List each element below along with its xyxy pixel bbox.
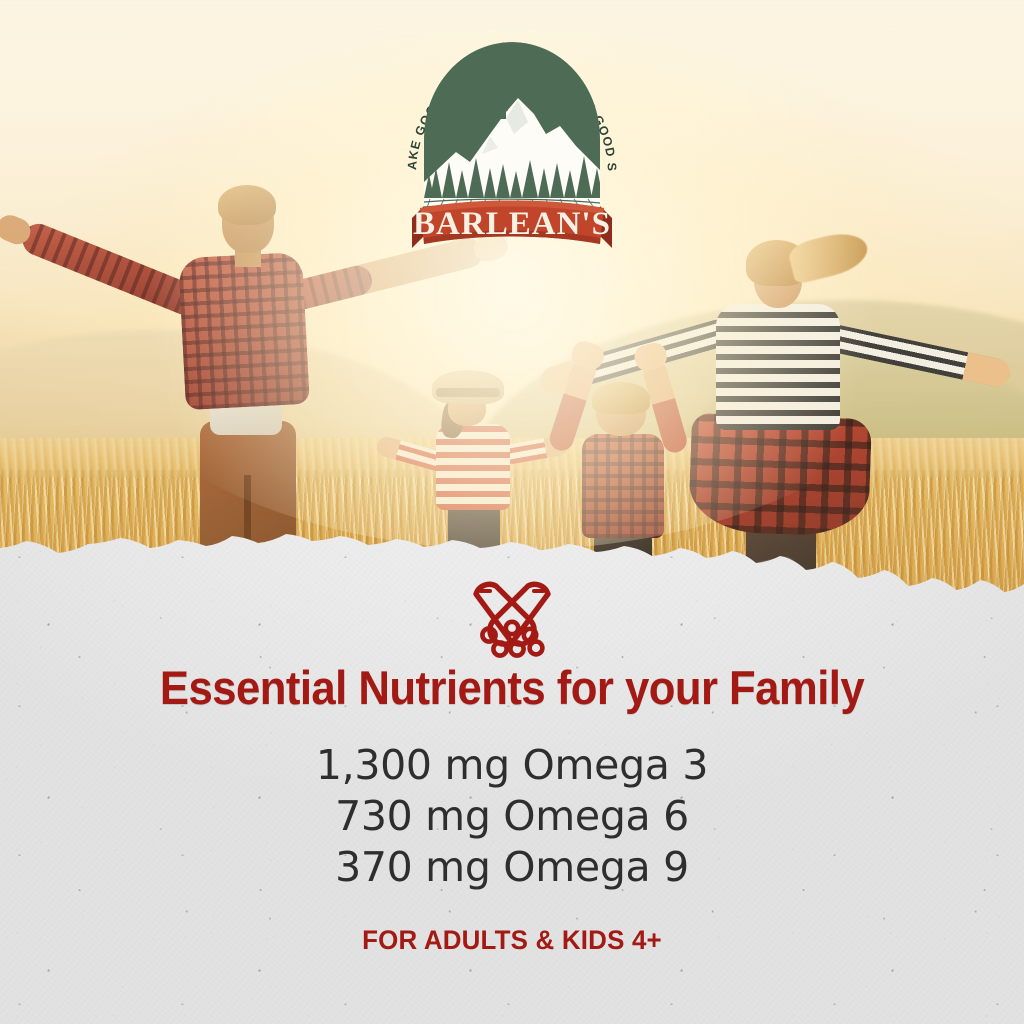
page-title: Essential Nutrients for your Family <box>36 660 988 715</box>
list-item: 1,300 mg Omega 3 <box>0 740 1024 791</box>
list-item: 730 mg Omega 6 <box>0 791 1024 842</box>
audience-note: FOR ADULTS & KIDS 4+ <box>20 925 1003 956</box>
panel-content: Essential Nutrients for your Family 1,30… <box>0 0 1024 1024</box>
list-item: 370 mg Omega 9 <box>0 842 1024 893</box>
promo-canvas: WE MAKE GOOD STUFF SO YOU CAN DO GOOD ST… <box>0 0 1024 1024</box>
crossed-softgel-capsules-icon <box>460 572 564 658</box>
omega-list: 1,300 mg Omega 3 730 mg Omega 6 370 mg O… <box>0 740 1024 893</box>
